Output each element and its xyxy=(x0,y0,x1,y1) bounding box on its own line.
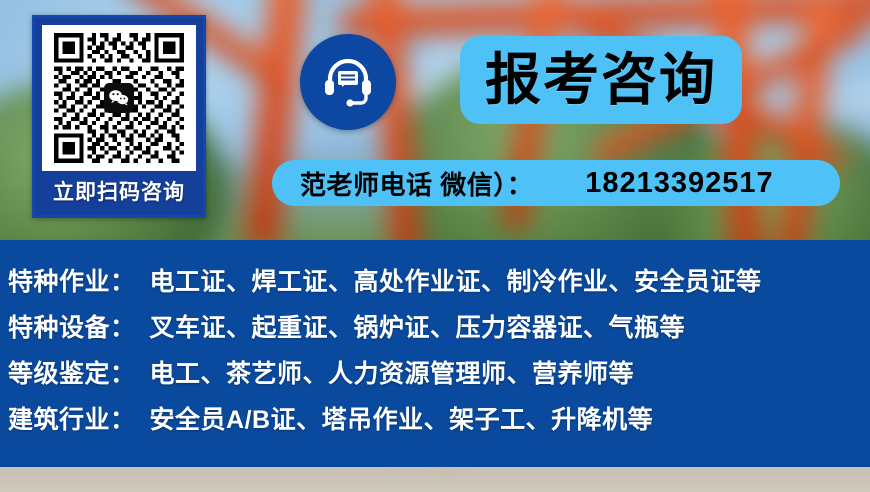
info-row-grade-appraisal: 等级鉴定： 电工、茶艺师、人力资源管理师、营养师等 xyxy=(8,354,870,400)
info-row-category: 建筑行业： xyxy=(8,400,136,436)
qr-code-image-wrapper xyxy=(42,25,196,171)
contact-bar[interactable]: 范老师电话 微信）： 18213392517 xyxy=(272,160,840,206)
headset-chat-icon xyxy=(317,51,379,113)
info-row-items: 安全员A/B证、塔吊作业、架子工、升降机等 xyxy=(150,400,654,436)
info-row-special-operations: 特种作业： 电工证、焊工证、高处作业证、制冷作业、安全员证等 xyxy=(8,262,870,308)
info-row-special-equipment: 特种设备： 叉车证、起重证、锅炉证、压力容器证、气瓶等 xyxy=(8,308,870,354)
info-row-items: 电工证、焊工证、高处作业证、制冷作业、安全员证等 xyxy=(150,262,762,298)
info-row-category: 特种设备： xyxy=(8,308,136,344)
contact-phone-number[interactable]: 18213392517 xyxy=(585,167,773,200)
wechat-logo-icon xyxy=(108,89,130,107)
headline-text: 报考咨询 xyxy=(485,52,717,108)
wechat-icon xyxy=(104,83,134,113)
qr-card-label: 立即扫码咨询 xyxy=(53,171,185,215)
qr-code-card[interactable]: 立即扫码咨询 xyxy=(32,15,206,218)
info-row-items: 叉车证、起重证、锅炉证、压力容器证、气瓶等 xyxy=(150,308,686,344)
info-row-items: 电工、茶艺师、人力资源管理师、营养师等 xyxy=(150,354,635,390)
contact-label: 范老师电话 微信）： xyxy=(300,165,533,202)
info-row-category: 等级鉴定： xyxy=(8,354,136,390)
promo-poster: 立即扫码咨询 报考咨询 范老师电话 微信）： 18213392517 特种作业：… xyxy=(0,0,870,492)
headset-support-badge xyxy=(300,34,396,130)
info-row-category: 特种作业： xyxy=(8,262,136,298)
headline-banner: 报考咨询 xyxy=(460,36,742,124)
certification-info-panel: 特种作业： 电工证、焊工证、高处作业证、制冷作业、安全员证等 特种设备： 叉车证… xyxy=(0,240,870,467)
info-row-construction-industry: 建筑行业： 安全员A/B证、塔吊作业、架子工、升降机等 xyxy=(8,400,870,446)
